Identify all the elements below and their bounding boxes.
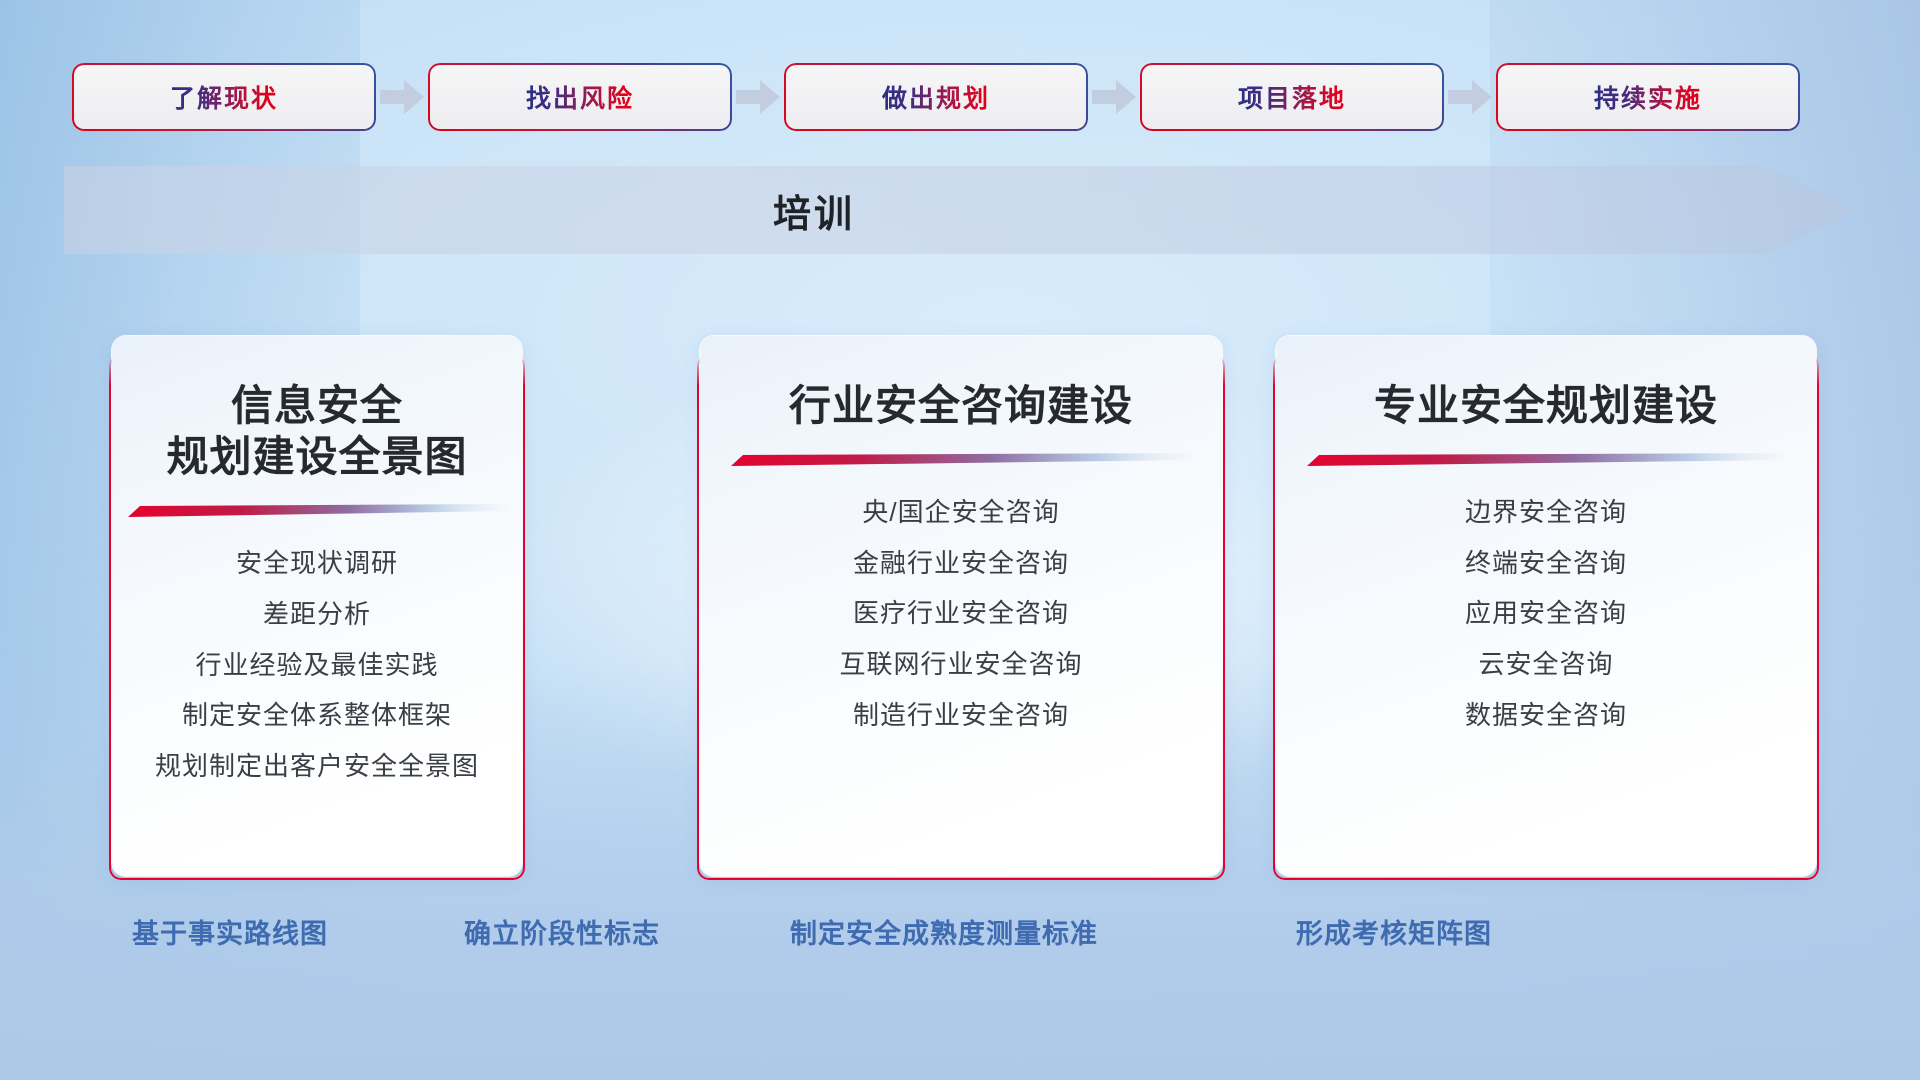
list-item: 应用安全咨询 xyxy=(1465,593,1627,635)
process-step-label: 找出风险 xyxy=(526,79,634,115)
list-item: 制造行业安全咨询 xyxy=(853,695,1069,737)
arrow-right-icon xyxy=(1086,65,1142,129)
list-item: 安全现状调研 xyxy=(236,543,398,585)
card-divider-icon xyxy=(1307,453,1785,466)
list-item: 边界安全咨询 xyxy=(1465,492,1627,534)
list-item: 央/国企安全咨询 xyxy=(862,492,1059,534)
list-item: 互联网行业安全咨询 xyxy=(839,644,1082,686)
footer-label-3: 制定安全成熟度测量标准 xyxy=(790,912,1098,951)
process-step-2[interactable]: 找出风险 xyxy=(430,65,730,129)
card-list: 边界安全咨询 终端安全咨询 应用安全咨询 云安全咨询 数据安全咨询 xyxy=(1465,492,1627,736)
process-step-label: 持续实施 xyxy=(1594,79,1702,115)
card-title: 专业安全规划建设 xyxy=(1374,380,1718,431)
list-item: 医疗行业安全咨询 xyxy=(853,593,1069,635)
card-information-security[interactable]: 信息安全 规划建设全景图 安全现状调研 差距分析 行业经验及最佳实践 制定安全体… xyxy=(112,336,522,876)
card-list: 安全现状调研 差距分析 行业经验及最佳实践 制定安全体系整体框架 规划制定出客户… xyxy=(155,543,479,787)
process-step-1[interactable]: 了解现状 xyxy=(74,65,374,129)
arrow-right-icon xyxy=(730,65,786,129)
card-divider-icon xyxy=(128,504,506,517)
card-industry-consulting[interactable]: 行业安全咨询建设 央/国企安全咨询 金融行业安全咨询 医疗行业安全咨询 互联网行… xyxy=(700,336,1222,876)
list-item: 金融行业安全咨询 xyxy=(853,543,1069,585)
list-item: 终端安全咨询 xyxy=(1465,543,1627,585)
process-step-label: 做出规划 xyxy=(882,79,990,115)
list-item: 数据安全咨询 xyxy=(1465,695,1627,737)
process-step-3[interactable]: 做出规划 xyxy=(786,65,1086,129)
card-divider-icon xyxy=(731,453,1191,466)
arrow-right-icon xyxy=(374,65,430,129)
list-item: 行业经验及最佳实践 xyxy=(195,645,438,687)
card-list: 央/国企安全咨询 金融行业安全咨询 医疗行业安全咨询 互联网行业安全咨询 制造行… xyxy=(839,492,1082,736)
process-step-label: 了解现状 xyxy=(170,79,278,115)
process-step-label: 项目落地 xyxy=(1238,79,1346,115)
footer-label-2: 确立阶段性标志 xyxy=(464,912,660,951)
list-item: 云安全咨询 xyxy=(1478,644,1613,686)
list-item: 制定安全体系整体框架 xyxy=(182,695,452,737)
process-step-5[interactable]: 持续实施 xyxy=(1498,65,1798,129)
footer-label-row: 基于事实路线图 确立阶段性标志 制定安全成熟度测量标准 形成考核矩阵图 xyxy=(0,912,1920,972)
process-step-row: 了解现状 找出风险 做出规划 项目落地 持续实施 xyxy=(0,62,1920,132)
card-title: 行业安全咨询建设 xyxy=(789,380,1133,431)
banner-title: 培训 xyxy=(64,166,1564,254)
card-professional-planning[interactable]: 专业安全规划建设 边界安全咨询 终端安全咨询 应用安全咨询 云安全咨询 数据安全… xyxy=(1276,336,1816,876)
list-item: 规划制定出客户安全全景图 xyxy=(155,746,479,788)
list-item: 差距分析 xyxy=(263,594,371,636)
training-banner: 培训 xyxy=(64,166,1856,254)
arrow-right-icon xyxy=(1442,65,1498,129)
card-row: 信息安全 规划建设全景图 安全现状调研 差距分析 行业经验及最佳实践 制定安全体… xyxy=(0,336,1920,876)
card-title: 信息安全 规划建设全景图 xyxy=(166,380,467,482)
footer-label-1: 基于事实路线图 xyxy=(132,912,328,951)
footer-label-4: 形成考核矩阵图 xyxy=(1296,912,1492,951)
process-step-4[interactable]: 项目落地 xyxy=(1142,65,1442,129)
